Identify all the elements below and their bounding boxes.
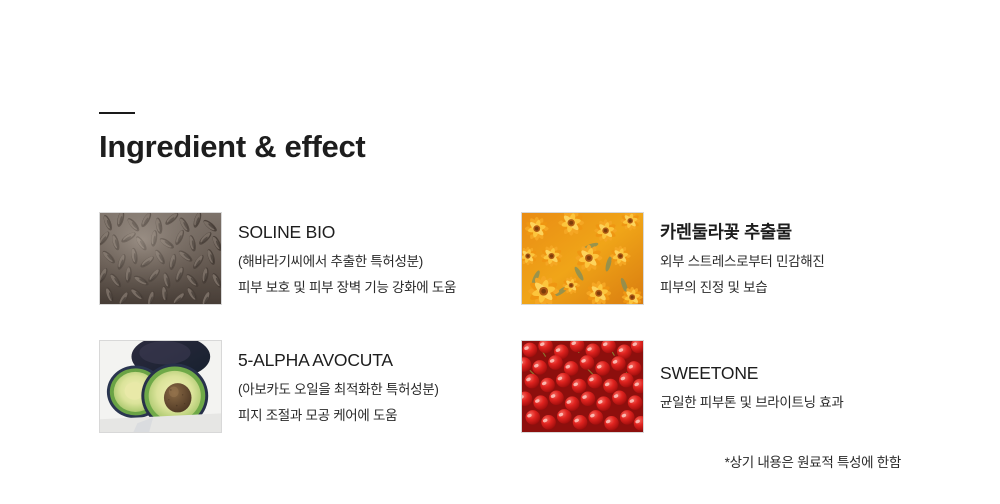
ingredient-desc-line-1: 균일한 피부톤 및 브라이트닝 효과 xyxy=(660,396,943,410)
red-currant-berries-photo xyxy=(521,340,644,433)
ingredient-row: SOLINE BIO (해바라기씨에서 추출한 특허성분) 피부 보호 및 피부… xyxy=(99,212,959,305)
ingredient-desc-line-1: 외부 스트레스로부터 민감해진 xyxy=(660,255,943,269)
ingredient-name: 카렌둘라꽃 추출물 xyxy=(660,222,943,244)
ingredient-grid: SOLINE BIO (해바라기씨에서 추출한 특허성분) 피부 보호 및 피부… xyxy=(99,212,959,433)
ingredient-desc-line-2: 피부 보호 및 피부 장벽 기능 강화에 도움 xyxy=(238,281,521,295)
section-header: Ingredient & effect xyxy=(99,112,365,164)
title-rule-divider xyxy=(99,112,135,114)
ingredient-text: SOLINE BIO (해바라기씨에서 추출한 특허성분) 피부 보호 및 피부… xyxy=(238,222,521,295)
calendula-flowers-photo xyxy=(521,212,644,305)
ingredient-item-sweetone: SWEETONE 균일한 피부톤 및 브라이트닝 효과 xyxy=(521,340,943,433)
ingredient-item-5-alpha-avocuta: 5-ALPHA AVOCUTA (아보카도 오일을 최적화한 특허성분) 피지 … xyxy=(99,340,521,433)
ingredient-name: 5-ALPHA AVOCUTA xyxy=(238,350,521,372)
ingredient-name: SWEETONE xyxy=(660,363,943,385)
ingredient-name: SOLINE BIO xyxy=(238,222,521,244)
ingredient-row: 5-ALPHA AVOCUTA (아보카도 오일을 최적화한 특허성분) 피지 … xyxy=(99,340,959,433)
ingredient-desc-line-2: 피지 조절과 모공 케어에 도움 xyxy=(238,409,521,423)
avocado-halves-photo xyxy=(99,340,222,433)
footnote-disclaimer: *상기 내용은 원료적 특성에 한함 xyxy=(725,451,901,471)
page-title: Ingredient & effect xyxy=(99,130,365,164)
ingredient-item-calendula: 카렌둘라꽃 추출물 외부 스트레스로부터 민감해진 피부의 진정 및 보습 xyxy=(521,212,943,305)
ingredient-text: 카렌둘라꽃 추출물 외부 스트레스로부터 민감해진 피부의 진정 및 보습 xyxy=(660,222,943,295)
ingredient-desc-line-1: (아보카도 오일을 최적화한 특허성분) xyxy=(238,383,521,397)
ingredient-text: SWEETONE 균일한 피부톤 및 브라이트닝 효과 xyxy=(660,363,943,409)
sunflower-seeds-photo xyxy=(99,212,222,305)
ingredient-desc-line-1: (해바라기씨에서 추출한 특허성분) xyxy=(238,255,521,269)
ingredient-desc-line-2: 피부의 진정 및 보습 xyxy=(660,281,943,295)
ingredient-text: 5-ALPHA AVOCUTA (아보카도 오일을 최적화한 특허성분) 피지 … xyxy=(238,350,521,423)
ingredient-item-soline-bio: SOLINE BIO (해바라기씨에서 추출한 특허성분) 피부 보호 및 피부… xyxy=(99,212,521,305)
